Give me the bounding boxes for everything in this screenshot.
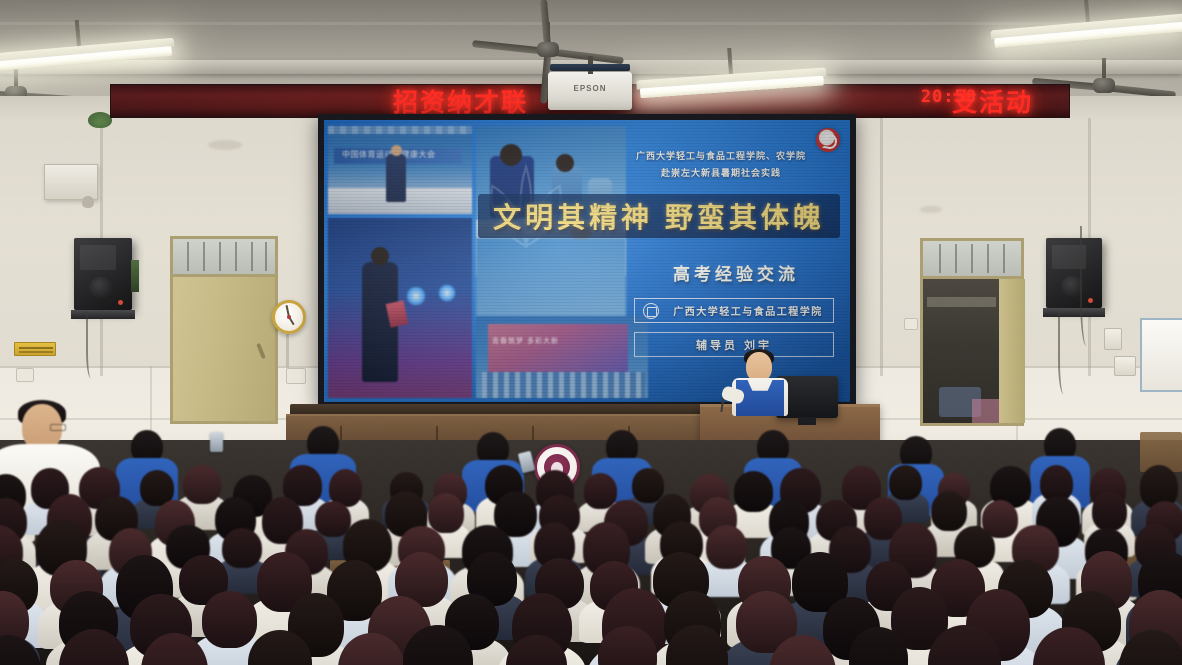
head-hair: [141, 633, 208, 665]
audience-head: [403, 625, 474, 665]
head-hair: [59, 629, 130, 665]
projector-brand-label: EPSON: [548, 84, 632, 93]
electrical-box-1[interactable]: [1104, 328, 1122, 350]
wall-mark-1: [208, 140, 242, 150]
wall-clock: [272, 300, 306, 334]
audience-head: [1119, 630, 1182, 665]
audience-head: [849, 627, 909, 665]
led-text-left: 招资纳才联: [393, 84, 528, 118]
slide-photo-conference: 中国体育运动与健康大会: [328, 126, 472, 214]
head-hair: [666, 625, 728, 665]
speaker-cable-left: [86, 312, 98, 378]
audience-head: [666, 625, 728, 665]
slide-header-line1: 广西大学轻工与食品工程学院、农学院: [606, 148, 836, 165]
phone-held-1: [210, 432, 223, 452]
transom-bars-right: [923, 241, 1021, 276]
audience-head: [889, 465, 922, 500]
audience-head: [598, 626, 657, 665]
audience-head: [248, 630, 312, 665]
wall-board-right: [1140, 318, 1182, 392]
head-hair: [734, 471, 773, 512]
transom-bars: [173, 239, 275, 274]
audience-head: [1033, 627, 1105, 665]
slide-org-box: 广西大学轻工与食品工程学院: [634, 298, 834, 323]
ceiling-seam: [0, 22, 1182, 25]
event-screen-text: 青春筑梦 多彩大新: [492, 336, 559, 346]
head-hair: [928, 625, 1001, 665]
slide-title: 文明其精神 野蛮其体魄: [478, 194, 840, 238]
wall-notice-sign: [14, 342, 56, 356]
wall-outlet-far-left[interactable]: [16, 368, 34, 382]
wall-junction-box: [44, 164, 98, 200]
wall-nozzle: [82, 196, 94, 208]
slide-photo-event: 青春筑梦 多彩大新: [476, 316, 648, 398]
door-left-leaf[interactable]: [173, 277, 275, 421]
clock-stem: [286, 334, 289, 368]
head-hair: [1119, 630, 1182, 665]
lecture-hall-photo: 招资纳才联 支活动 20:58 EPSON 中国体育运动与健康大会: [0, 0, 1182, 665]
audience-head: [506, 635, 567, 665]
head-hair: [598, 626, 657, 665]
head-hair: [769, 635, 836, 665]
head-hair: [248, 630, 312, 665]
speaker-cable-right: [1058, 310, 1072, 394]
door-right[interactable]: [920, 238, 1024, 426]
door-right-leaf[interactable]: [999, 279, 1025, 423]
head-hair: [889, 465, 922, 500]
door-handle-icon[interactable]: [256, 343, 266, 359]
audience-head: [59, 629, 130, 665]
door-transom-window: [173, 239, 275, 277]
audience-head: [141, 633, 208, 665]
wall-seam-3: [880, 118, 883, 376]
wall-mark-3: [920, 206, 942, 213]
head-hair: [0, 635, 41, 665]
wall-speaker-left: [74, 238, 132, 310]
wall-outlet-left[interactable]: [286, 368, 306, 384]
projector-arm: [550, 64, 630, 71]
conduit-right: [1080, 226, 1096, 346]
door-right-transom: [923, 241, 1021, 279]
audience-head: [338, 633, 405, 665]
audience-head: [769, 635, 836, 665]
wall-outlet-right[interactable]: [904, 318, 918, 330]
slide-title-band: 文明其精神 野蛮其体魄: [478, 194, 840, 238]
audience-head: [1092, 491, 1128, 532]
led-clock: 20:58: [921, 87, 977, 107]
slide-org-text: 广西大学轻工与食品工程学院: [667, 299, 829, 322]
slide-header: 广西大学轻工与食品工程学院、农学院 赴崇左大新县暑期社会实践: [606, 148, 836, 181]
head-hair: [506, 635, 567, 665]
potted-plant: [88, 112, 112, 128]
head-hair: [1092, 491, 1128, 532]
audience-head: [734, 471, 773, 512]
door-left[interactable]: [170, 236, 278, 424]
head-hair: [338, 633, 405, 665]
audience-head: [0, 635, 41, 665]
audience-head: [928, 625, 1001, 665]
slide-photo-stage: [328, 218, 472, 398]
slide-subtitle: 高考经验交流: [646, 260, 826, 285]
slide-header-line2: 赴崇左大新县暑期社会实践: [606, 165, 836, 182]
projector: EPSON: [548, 72, 632, 110]
org-badge-icon: [643, 303, 659, 319]
head-hair: [403, 625, 474, 665]
head-hair: [1033, 627, 1105, 665]
presenter: [724, 352, 796, 414]
head-hair: [849, 627, 909, 665]
electrical-box-2[interactable]: [1114, 356, 1136, 376]
